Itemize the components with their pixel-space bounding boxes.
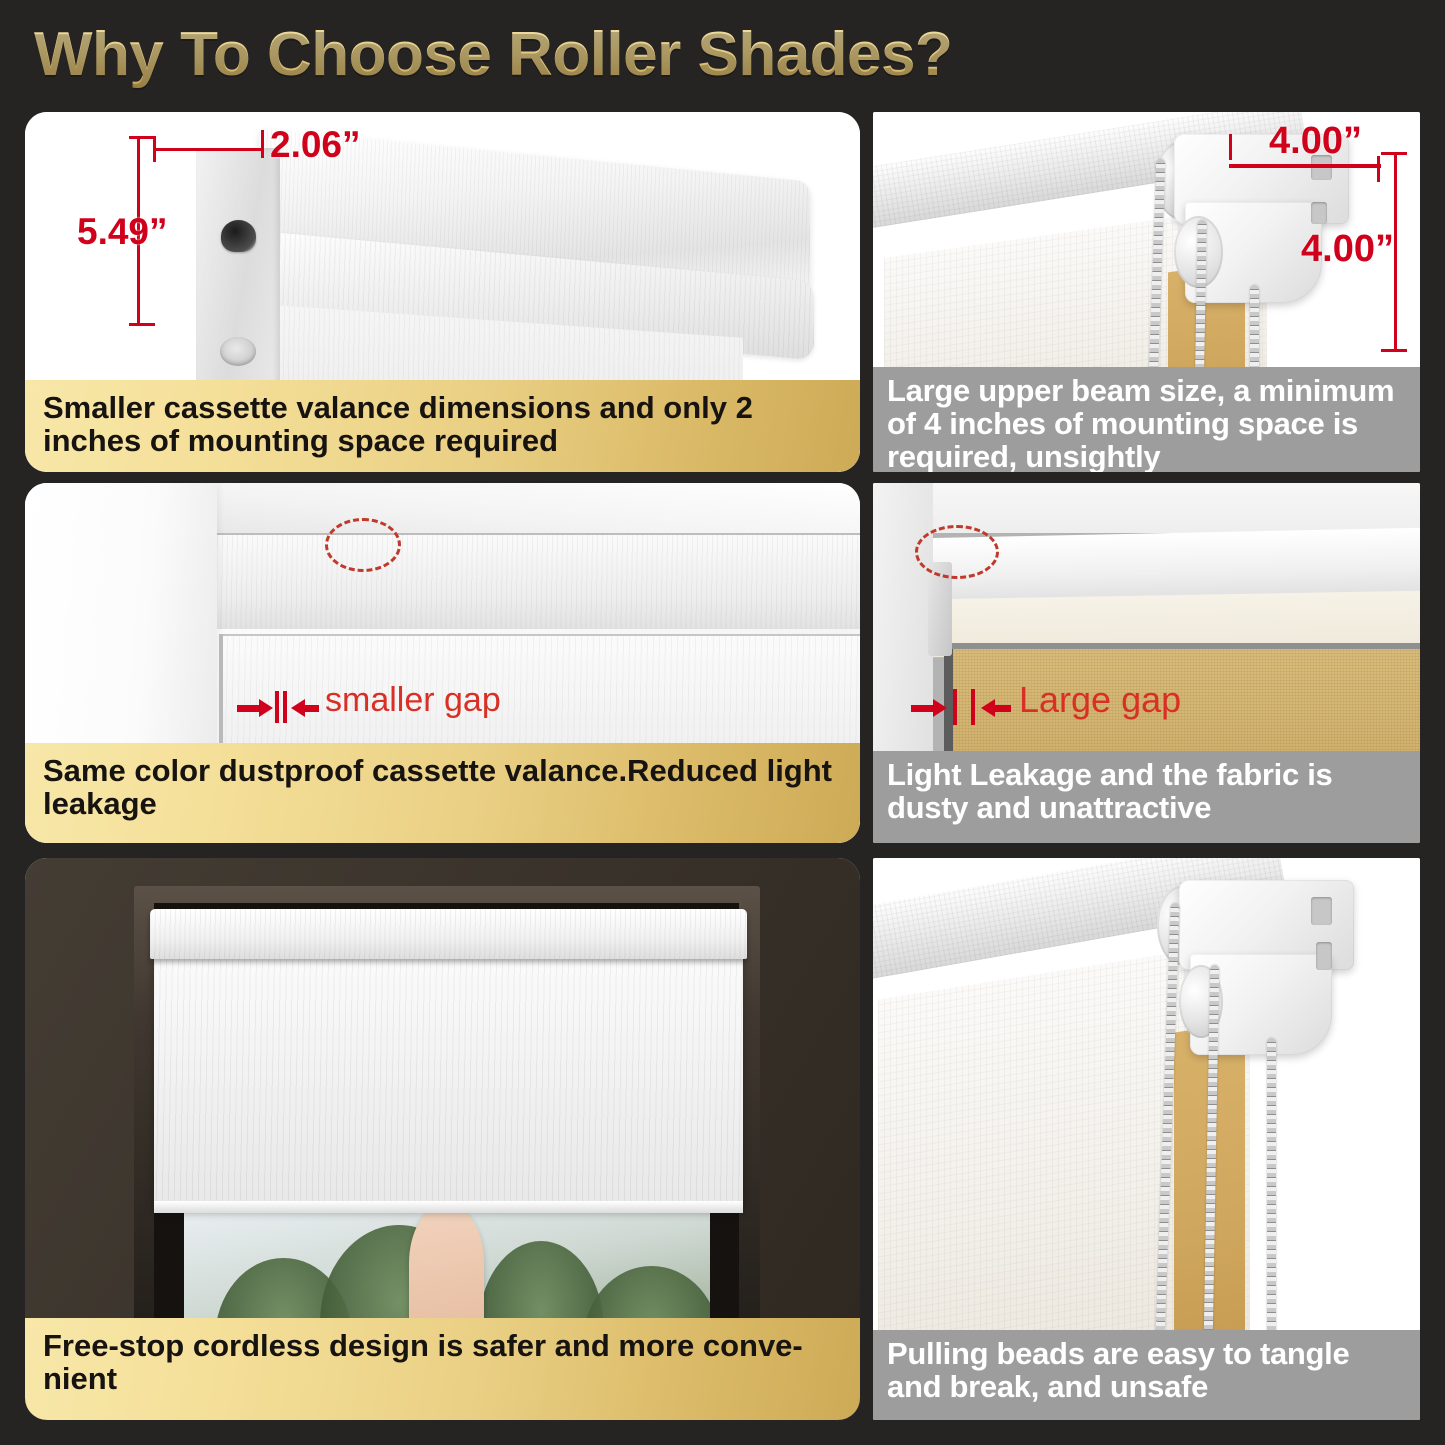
dim-line-w: [1229, 164, 1381, 168]
gap-marker-left: [953, 689, 957, 725]
panel-smaller-cassette: 2.06” 5.49” Smaller cassette valance dim…: [25, 112, 860, 472]
dim-tick-h-top: [1381, 152, 1407, 155]
panel-dustproof-valance: smaller gap Same color dustproof cassett…: [25, 483, 860, 843]
page-header: Why To Choose Roller Shades?: [0, 0, 1445, 108]
highlight-circle-icon: [325, 518, 401, 572]
dim-tick-left-bottom: [129, 323, 155, 326]
dim-tick-w-right: [1377, 156, 1380, 182]
gap-arrow-left-shaft: [237, 705, 261, 712]
panel-5-caption-line-2: nient: [43, 1363, 117, 1396]
panel-5-caption-line-1: Free-stop cordless design is safer and m…: [43, 1330, 803, 1363]
panel-large-upper-beam: 4.00” 4.00” Large upper beam size, a min…: [873, 112, 1420, 472]
gap-callout-label: Large gap: [1019, 679, 1181, 721]
dim-tick-w-left: [1229, 134, 1232, 160]
highlight-circle-icon: [915, 525, 999, 579]
gap-callout-label: smaller gap: [325, 681, 501, 720]
dim-tick-left-top: [129, 136, 155, 139]
dim-tick-top-right: [261, 130, 264, 158]
gap-arrow-left-shaft: [911, 705, 935, 712]
gap-marker-right: [971, 689, 975, 725]
gap-marker-left: [275, 691, 279, 723]
dimension-label-height: 4.00”: [1301, 228, 1394, 271]
panel-cordless-design: Free-stop cordless design is safer and m…: [25, 858, 860, 1420]
panel-5-caption: Free-stop cordless design is safer and m…: [25, 1318, 860, 1420]
panel-1-caption-text: Smaller cassette valance dimensions and …: [43, 392, 844, 458]
dimension-label-width: 2.06”: [270, 124, 361, 166]
panel-6-caption-text: Pulling beads are easy to tangle and bre…: [887, 1338, 1408, 1404]
panel-3-caption: Same color dustproof cassette valance.Re…: [25, 743, 860, 843]
panel-2-caption-text: Large upper beam size, a minimum of 4 in…: [887, 375, 1408, 472]
bead-chain-right: [1267, 1038, 1276, 1341]
cassette-valance: [150, 909, 747, 960]
dim-line-width: [153, 148, 263, 151]
dim-tick-h-bottom: [1381, 349, 1407, 352]
panel-light-leakage: Large gap Light Leakage and the fabric i…: [873, 483, 1420, 843]
gap-marker-right: [283, 691, 287, 723]
panel-pulling-beads: Pulling beads are easy to tangle and bre…: [873, 858, 1420, 1420]
panel-1-caption: Smaller cassette valance dimensions and …: [25, 380, 860, 472]
gap-arrow-right-shaft: [995, 705, 1011, 712]
panel-3-caption-text: Same color dustproof cassette valance.Re…: [43, 755, 844, 821]
gap-arrow-left-head: [259, 699, 273, 717]
gap-arrow-right-shaft: [305, 705, 319, 712]
gap-arrow-right-head: [981, 699, 995, 717]
gap-arrow-left-head: [933, 699, 947, 717]
panel-4-caption-text: Light Leakage and the fabric is dusty an…: [887, 759, 1408, 825]
bottom-rail: [154, 1201, 743, 1213]
dim-line-h: [1394, 152, 1397, 352]
panel-4-caption: Light Leakage and the fabric is dusty an…: [873, 751, 1420, 843]
page-title: Why To Choose Roller Shades?: [34, 19, 952, 90]
gap-arrow-right-head: [291, 699, 305, 717]
dimension-label-height: 5.49”: [77, 211, 168, 253]
bracket-screw-icon: [220, 337, 257, 366]
panel-2-caption: Large upper beam size, a minimum of 4 in…: [873, 367, 1420, 472]
infographic-page: Why To Choose Roller Shades? 2.06” 5.49”…: [0, 0, 1445, 1445]
dimension-label-width: 4.00”: [1269, 120, 1362, 163]
bracket-keyhole-icon: [221, 220, 256, 252]
panel-6-caption: Pulling beads are easy to tangle and bre…: [873, 1330, 1420, 1420]
